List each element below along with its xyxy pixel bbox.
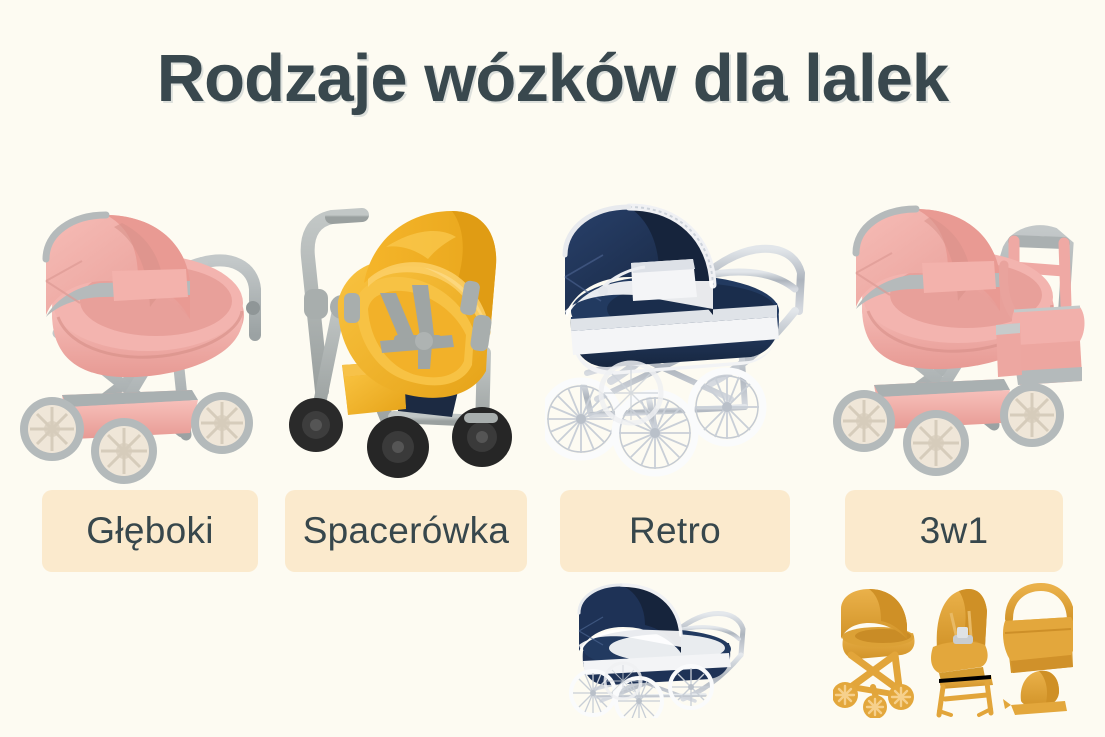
infographic-canvas: Rodzaje wózków dla lalek <box>0 0 1105 737</box>
label-box-retro[interactable]: Retro <box>560 490 790 572</box>
label-text-retro: Retro <box>629 510 721 552</box>
stroller-card-retro <box>545 185 821 485</box>
label-box-3w1[interactable]: 3w1 <box>845 490 1063 572</box>
icon-car-seat <box>931 589 988 681</box>
icon-stand-frame <box>939 675 993 715</box>
three-in-one-components-icons <box>833 583 1073 718</box>
wheel <box>691 371 763 443</box>
icon-pram-bassinet-on-frame <box>833 589 915 718</box>
wheel <box>601 363 661 423</box>
wheel <box>1000 383 1064 447</box>
stroller-card-spacerowka <box>276 185 552 485</box>
wheel <box>91 418 157 484</box>
stroller-card-3w1 <box>828 185 1104 485</box>
icon-carry-bag <box>1003 587 1073 673</box>
label-box-spacerowka[interactable]: Spacerówka <box>285 490 527 572</box>
wheel <box>615 393 695 473</box>
three-in-one-stroller-pink-illustration <box>828 185 1104 485</box>
stroller-card-gleboki <box>10 185 286 485</box>
small-retro-pram-navy-icon <box>565 583 760 718</box>
wheel <box>903 410 969 476</box>
wheel <box>833 390 895 452</box>
retro-pram-navy-illustration <box>545 185 821 485</box>
wheel <box>452 407 512 467</box>
label-box-gleboki[interactable]: Głęboki <box>42 490 258 572</box>
wheel <box>191 392 253 454</box>
label-text-gleboki: Głęboki <box>86 510 214 552</box>
wheel <box>367 416 429 478</box>
wheel <box>289 398 343 452</box>
page-title: Rodzaje wózków dla lalek <box>0 40 1105 117</box>
deep-pram-pink-illustration <box>10 185 286 485</box>
umbrella-stroller-yellow-illustration <box>276 185 552 485</box>
label-text-3w1: 3w1 <box>920 510 989 552</box>
icon-seat-unit <box>1003 671 1067 715</box>
label-text-spacerowka: Spacerówka <box>303 510 510 552</box>
wheel <box>20 397 84 461</box>
